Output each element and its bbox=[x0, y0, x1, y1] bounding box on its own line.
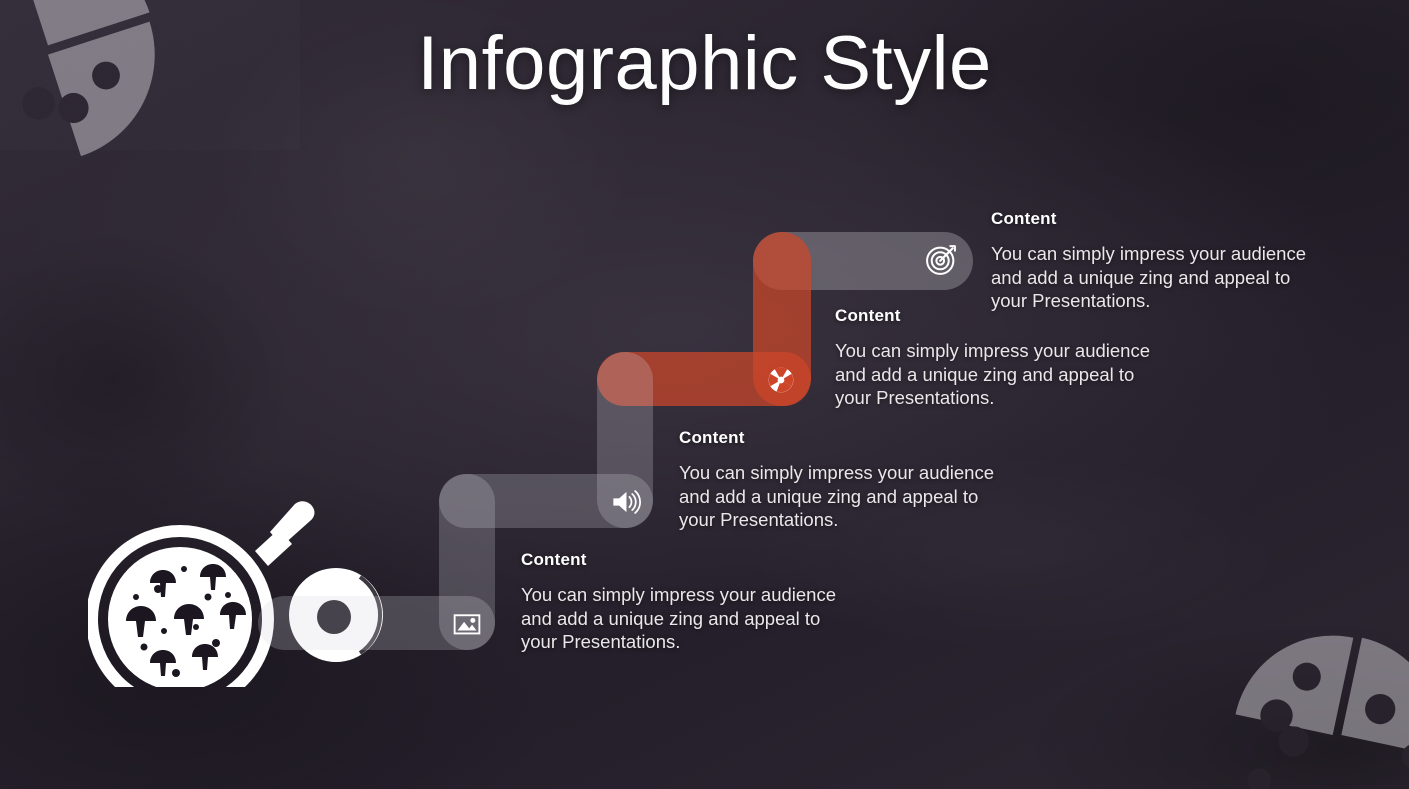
step-2-text-block: Content You can simply impress your audi… bbox=[835, 306, 1165, 410]
step-3-body: You can simply impress your audience and… bbox=[679, 461, 1009, 532]
step-4-body: You can simply impress your audience and… bbox=[521, 583, 851, 654]
target-icon bbox=[911, 230, 971, 290]
step-1-text-block: Content You can simply impress your audi… bbox=[991, 209, 1321, 313]
step-2-body: You can simply impress your audience and… bbox=[835, 339, 1165, 410]
step-2-heading: Content bbox=[835, 306, 1165, 326]
step-1-body: You can simply impress your audience and… bbox=[991, 242, 1321, 313]
infographic-slide: Content You can simply impress your audi… bbox=[0, 0, 1409, 789]
page-title: Infographic Style bbox=[0, 22, 1409, 106]
step-1-heading: Content bbox=[991, 209, 1321, 229]
step-4-heading: Content bbox=[521, 550, 851, 570]
speaker-icon bbox=[596, 473, 653, 530]
step-4-text-block: Content You can simply impress your audi… bbox=[521, 550, 851, 654]
step-3-heading: Content bbox=[679, 428, 1009, 448]
step-3-text-block: Content You can simply impress your audi… bbox=[679, 428, 1009, 532]
image-icon bbox=[438, 595, 495, 652]
pizza-icon bbox=[92, 531, 268, 687]
radiation-icon bbox=[752, 351, 810, 409]
mushroom-pizza-illustration bbox=[88, 497, 388, 687]
pizza-slice-bottom-right-icon bbox=[1229, 627, 1409, 789]
